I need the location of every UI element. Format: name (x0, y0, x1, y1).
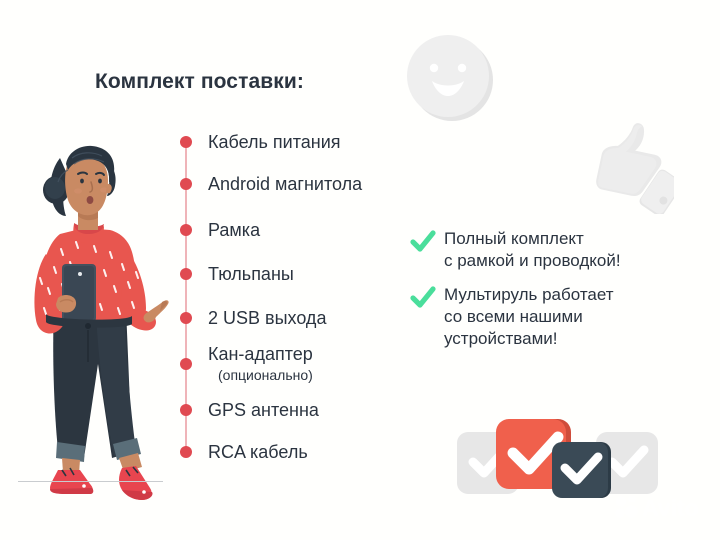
list-item-label: Кабель питания (208, 132, 341, 153)
benefits-list: Полный комплект с рамкой и проводкой! Му… (410, 228, 700, 362)
ground-line (18, 481, 163, 482)
benefit-item: Мультируль работает со всеми нашими устр… (410, 284, 700, 350)
list-item-label: Рамка (208, 220, 260, 241)
list-item-label: Android магнитола (208, 174, 362, 195)
bullet-dot (180, 404, 192, 416)
bullet-dot (180, 312, 192, 324)
avito-logo-icon: Avito (612, 492, 712, 522)
check-icon (410, 230, 436, 254)
list-item-label: GPS антенна (208, 400, 319, 421)
page-title: Комплект поставки: (95, 70, 304, 94)
benefit-text: Мультируль работает со всеми нашими устр… (444, 284, 700, 350)
list-item-label: Кан-адаптер (208, 344, 313, 365)
smiley-face-icon (404, 32, 496, 124)
bullet-dot (180, 358, 192, 370)
bullet-dot (180, 178, 192, 190)
list-item-label: Тюльпаны (208, 264, 294, 285)
list-item-sublabel: (опционально) (218, 367, 313, 383)
bullet-dot (180, 224, 192, 236)
benefit-text: Полный комплект с рамкой и проводкой! (444, 228, 700, 272)
list-item-label: RCA кабель (208, 442, 308, 463)
benefit-item: Полный комплект с рамкой и проводкой! (410, 228, 700, 272)
bullet-dot (180, 446, 192, 458)
checkbox-cards-icon (455, 402, 660, 507)
avito-watermark-text: Avito (642, 495, 699, 521)
bullet-dot (180, 268, 192, 280)
bullet-dot (180, 136, 192, 148)
check-icon (410, 286, 436, 310)
thumbs-up-icon (578, 116, 674, 214)
promo-canvas: Avito (0, 0, 720, 540)
list-item-label: 2 USB выхода (208, 308, 326, 329)
kit-contents-list: Кабель питания Android магнитола Рамка Т… (180, 132, 430, 462)
woman-pointing-illustration (14, 112, 174, 504)
